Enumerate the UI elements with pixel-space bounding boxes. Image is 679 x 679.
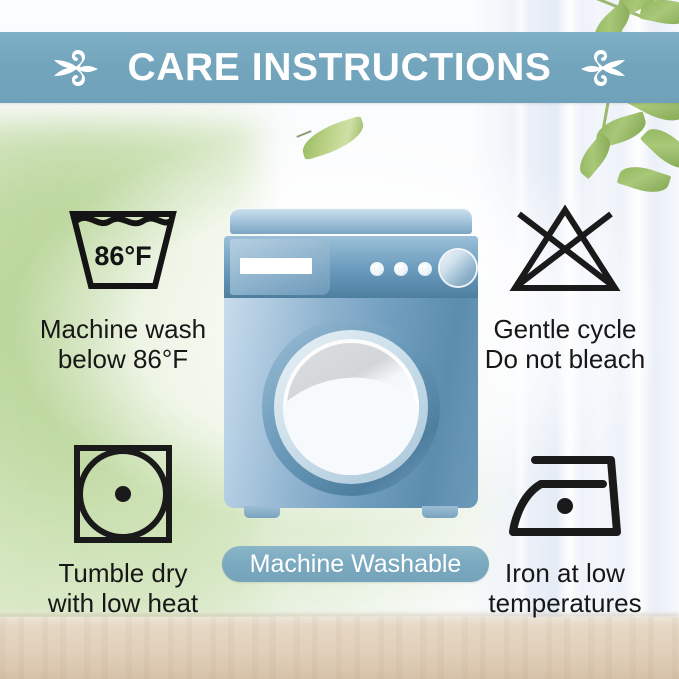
leaf bbox=[639, 0, 679, 29]
washer-drawer-slot bbox=[240, 258, 312, 274]
fleur-de-lis-icon bbox=[578, 45, 640, 91]
washer-top-cap bbox=[230, 208, 472, 234]
washer-door-glass bbox=[283, 339, 419, 475]
washer-foot bbox=[244, 506, 280, 518]
care-instructions-banner: CARE INSTRUCTIONS bbox=[0, 32, 679, 103]
wash-tub-temperature-text: 86°F bbox=[94, 241, 151, 271]
care-symbol-caption: Machine wash below 86°F bbox=[40, 314, 206, 374]
care-symbol-machine-wash: 86°F Machine wash below 86°F bbox=[18, 196, 228, 374]
iron-low-icon bbox=[503, 440, 627, 548]
care-symbol-iron-low: Iron at low temperatures bbox=[460, 440, 670, 618]
washer-foot bbox=[422, 506, 458, 518]
washing-machine-illustration bbox=[224, 208, 478, 538]
washer-indicator-light bbox=[370, 262, 384, 276]
wash-tub-icon: 86°F bbox=[63, 196, 183, 304]
banner-title: CARE INSTRUCTIONS bbox=[127, 48, 551, 87]
fleur-de-lis-icon bbox=[39, 45, 101, 91]
wooden-table bbox=[0, 617, 679, 679]
tumble-dry-low-icon bbox=[71, 440, 175, 548]
machine-washable-label: Machine Washable bbox=[250, 552, 462, 577]
care-symbol-tumble-dry-low: Tumble dry with low heat bbox=[18, 440, 228, 618]
washer-indicator-light bbox=[394, 262, 408, 276]
care-symbol-caption: Iron at low temperatures bbox=[488, 558, 641, 618]
care-symbol-gentle-cycle-no-bleach: Gentle cycle Do not bleach bbox=[460, 196, 670, 374]
crossed-triangle-icon bbox=[505, 196, 625, 304]
washer-program-knob bbox=[440, 250, 476, 286]
washer-door-highlight bbox=[283, 360, 419, 475]
care-symbol-caption: Tumble dry with low heat bbox=[48, 558, 198, 618]
leaf bbox=[617, 161, 672, 198]
care-symbol-caption: Gentle cycle Do not bleach bbox=[485, 314, 645, 374]
machine-washable-badge: Machine Washable bbox=[222, 546, 489, 582]
washer-indicator-light bbox=[418, 262, 432, 276]
